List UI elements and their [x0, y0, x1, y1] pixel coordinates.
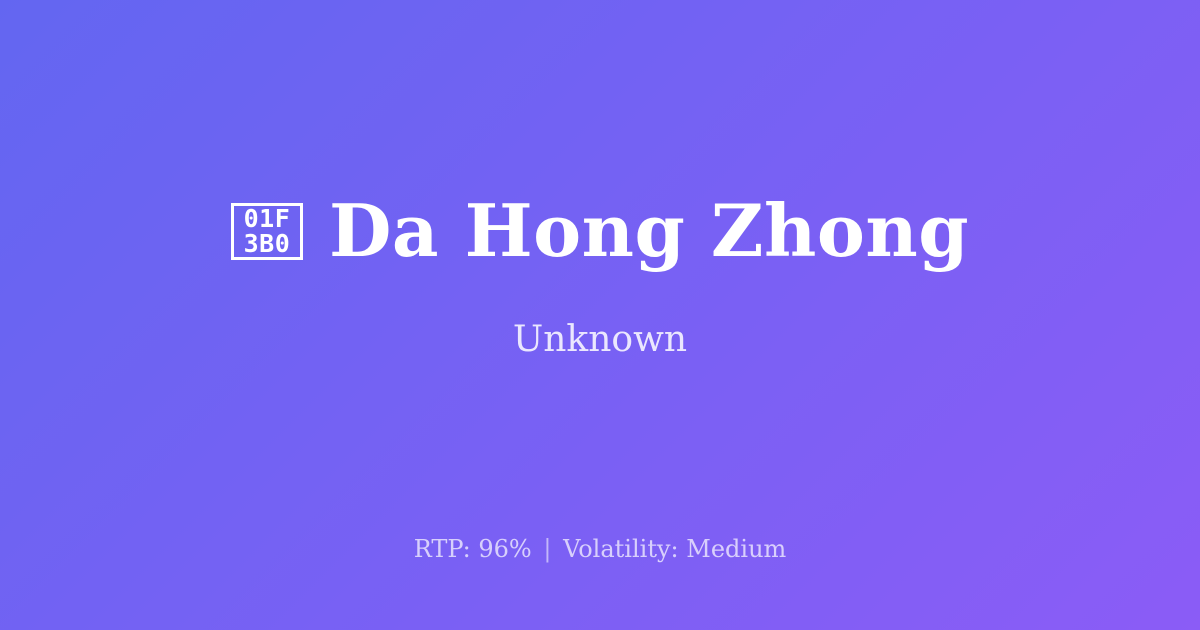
volatility-value: Medium	[686, 535, 786, 563]
meta-separator: |	[539, 535, 555, 563]
og-share-card: 01F 3B0 Da Hong Zhong Unknown RTP: 96% |…	[0, 0, 1200, 630]
title-row: 01F 3B0 Da Hong Zhong	[0, 193, 1200, 269]
hero-block: 01F 3B0 Da Hong Zhong Unknown	[0, 193, 1200, 361]
volatility-label: Volatility:	[563, 535, 679, 563]
rtp-label: RTP:	[414, 535, 471, 563]
footer-meta: RTP: 96% | Volatility: Medium	[0, 535, 1200, 564]
tofu-codepoint-low: 3B0	[244, 231, 291, 256]
tofu-codepoint-high: 01F	[244, 206, 291, 231]
page-subtitle: Unknown	[513, 318, 687, 361]
slot-machine-icon: 01F 3B0	[231, 203, 303, 260]
page-title: Da Hong Zhong	[329, 193, 969, 269]
rtp-value: 96%	[478, 535, 531, 563]
